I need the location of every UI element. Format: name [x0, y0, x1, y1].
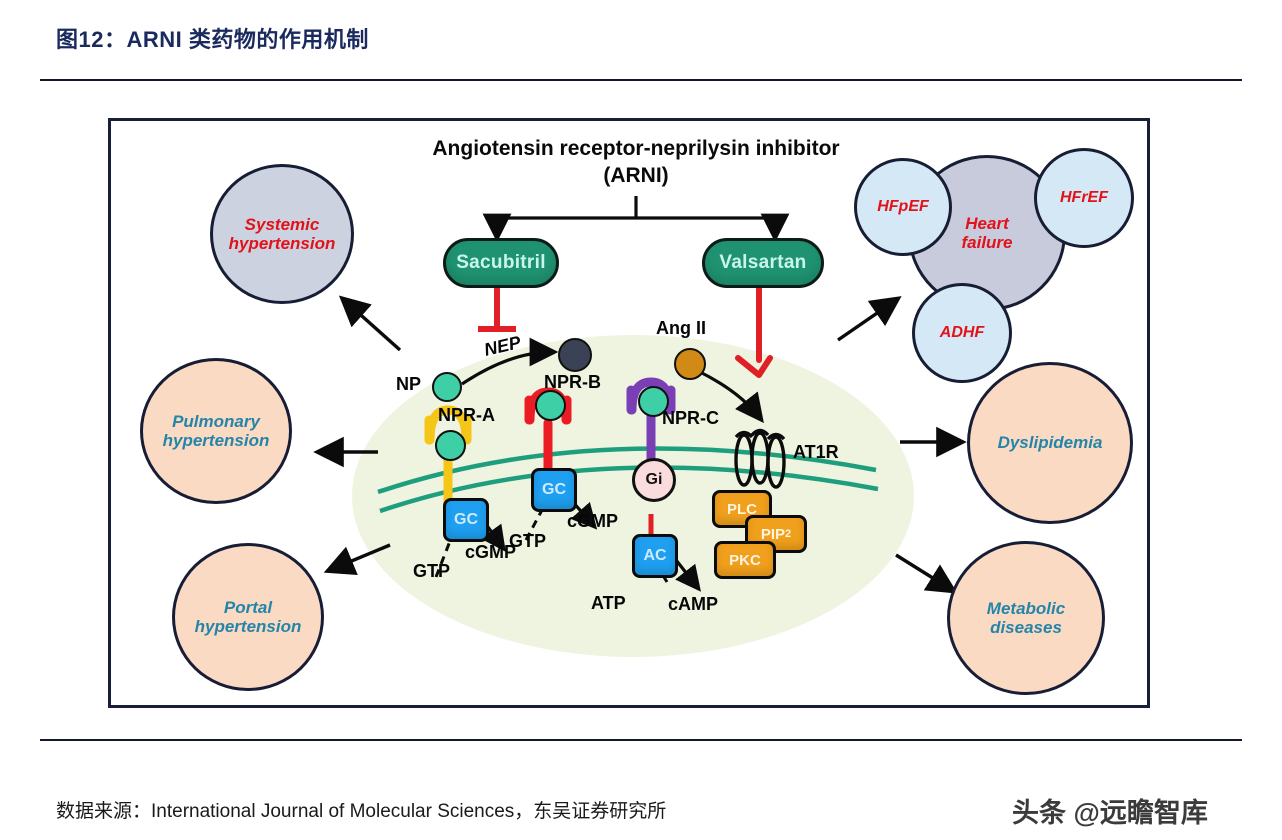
- npr-b-bound-ligand: [535, 390, 566, 421]
- drug-pill-sacubitril[interactable]: Sacubitril: [443, 238, 559, 288]
- label-ang-ii: Ang II: [656, 318, 706, 339]
- heart-failure-line1: Heart: [961, 214, 1012, 233]
- npr-a-bound-ligand: [435, 430, 466, 461]
- page-title: 图12：ARNI 类药物的作用机制: [56, 22, 369, 54]
- pip2-base: PIP: [761, 526, 785, 543]
- bubble-hfpef[interactable]: HFpEF: [854, 158, 952, 256]
- bubble-portal-hypertension[interactable]: Portal hypertension: [172, 543, 324, 691]
- bubble-pulmonary-hypertension[interactable]: Pulmonary hypertension: [140, 358, 292, 504]
- enzyme-pkc: PKC: [714, 541, 776, 579]
- bubble-systemic-hypertension[interactable]: Systemic hypertension: [210, 164, 354, 304]
- label-npr-b: NPR-B: [544, 372, 601, 393]
- dyslipidemia-line1: Dyslipidemia: [998, 433, 1103, 452]
- arni-title-line1: Angiotensin receptor-neprilysin inhibito…: [386, 136, 886, 163]
- label-npr-a: NPR-A: [438, 405, 495, 426]
- bubble-metabolic-diseases[interactable]: Metabolic diseases: [947, 541, 1105, 695]
- figure-main-title: Angiotensin receptor-neprilysin inhibito…: [386, 136, 886, 190]
- metabolic-diseases-line1: Metabolic: [987, 599, 1065, 618]
- pulmonary-hypertension-line1: Pulmonary: [163, 412, 270, 431]
- watermark: 头条 @远瞻智库: [1012, 791, 1208, 830]
- enzyme-gc-mid: GC: [531, 468, 577, 512]
- hfref-label: HFrEF: [1060, 189, 1108, 207]
- adhf-label: ADHF: [940, 324, 984, 342]
- figure-page: 图12：ARNI 类药物的作用机制: [0, 0, 1282, 840]
- drug-pill-valsartan[interactable]: Valsartan: [702, 238, 824, 288]
- divider-bottom: [40, 739, 1242, 741]
- portal-hypertension-line1: Portal: [195, 598, 302, 617]
- enzyme-ac: AC: [632, 534, 678, 578]
- label-camp: cAMP: [668, 594, 718, 615]
- portal-hypertension-line2: hypertension: [195, 617, 302, 636]
- pip2-subscript: 2: [785, 528, 791, 540]
- np-ligand-dot: [432, 372, 462, 402]
- label-atp: ATP: [591, 593, 626, 614]
- arni-title-line2: (ARNI): [386, 163, 886, 190]
- npr-b-ligand-dot: [558, 338, 592, 372]
- systemic-hypertension-line1: Systemic: [229, 215, 336, 234]
- label-cgmp-mid: cGMP: [567, 511, 618, 532]
- metabolic-diseases-line2: diseases: [987, 618, 1065, 637]
- systemic-hypertension-line2: hypertension: [229, 234, 336, 253]
- ang-ii-dot: [674, 348, 706, 380]
- bubble-adhf[interactable]: ADHF: [912, 283, 1012, 383]
- source-note: 数据来源：International Journal of Molecular …: [56, 796, 666, 823]
- divider-top: [40, 79, 1242, 81]
- label-np: NP: [396, 374, 421, 395]
- hfpef-label: HFpEF: [877, 198, 929, 216]
- label-gtp-mid: GTP: [509, 531, 546, 552]
- label-npr-c: NPR-C: [662, 408, 719, 429]
- g-protein-gi: Gi: [632, 458, 676, 502]
- label-gtp-left: GTP: [413, 561, 450, 582]
- pulmonary-hypertension-line2: hypertension: [163, 431, 270, 450]
- label-at1r: AT1R: [793, 442, 839, 463]
- heart-failure-line2: failure: [961, 233, 1012, 252]
- enzyme-gc-left: GC: [443, 498, 489, 542]
- bubble-dyslipidemia[interactable]: Dyslipidemia: [967, 362, 1133, 524]
- bubble-hfref[interactable]: HFrEF: [1034, 148, 1134, 248]
